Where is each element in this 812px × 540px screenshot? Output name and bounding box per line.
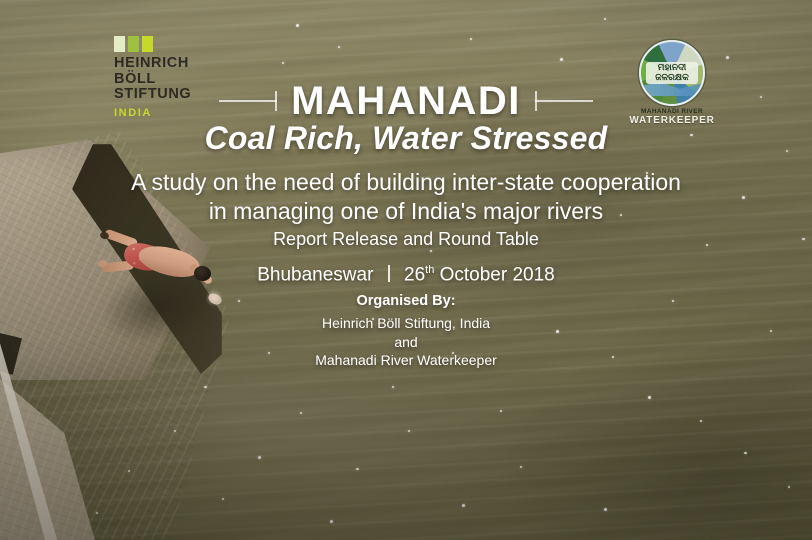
poster-text-content: MAHANADI Coal Rich, Water Stressed A stu… (0, 0, 812, 540)
title-rule-left (219, 100, 277, 102)
organiser-1: Heinrich Böll Stiftung, India (0, 314, 812, 333)
organisers-list: Heinrich Böll Stiftung, India and Mahana… (0, 314, 812, 370)
organised-by-label: Organised By: (0, 292, 812, 310)
venue-name: Bhubaneswar (257, 264, 373, 285)
title-rule-right (535, 100, 593, 102)
subtitle-line-1: A study on the need of building inter-st… (0, 168, 812, 197)
title-row: MAHANADI (0, 80, 812, 122)
organiser-conjunction: and (0, 333, 812, 352)
poster: HEINRICH BÖLL STIFTUNG INDIA ମହାନଦୀ ଜଳରକ… (0, 0, 812, 540)
event-type: Report Release and Round Table (0, 228, 812, 250)
date-day: 26 (404, 264, 425, 285)
venue-date-separator (388, 265, 390, 282)
venue-and-date: Bhubaneswar 26th October 2018 (0, 259, 812, 286)
date-ordinal-suffix: th (425, 264, 434, 276)
poster-subtitle: A study on the need of building inter-st… (0, 168, 812, 226)
date-month-year: October 2018 (440, 264, 555, 285)
subtitle-line-2: in managing one of India's major rivers (0, 197, 812, 226)
page-title: MAHANADI (291, 80, 521, 122)
organiser-2: Mahanadi River Waterkeeper (0, 351, 812, 370)
poster-tagline: Coal Rich, Water Stressed (0, 120, 812, 156)
